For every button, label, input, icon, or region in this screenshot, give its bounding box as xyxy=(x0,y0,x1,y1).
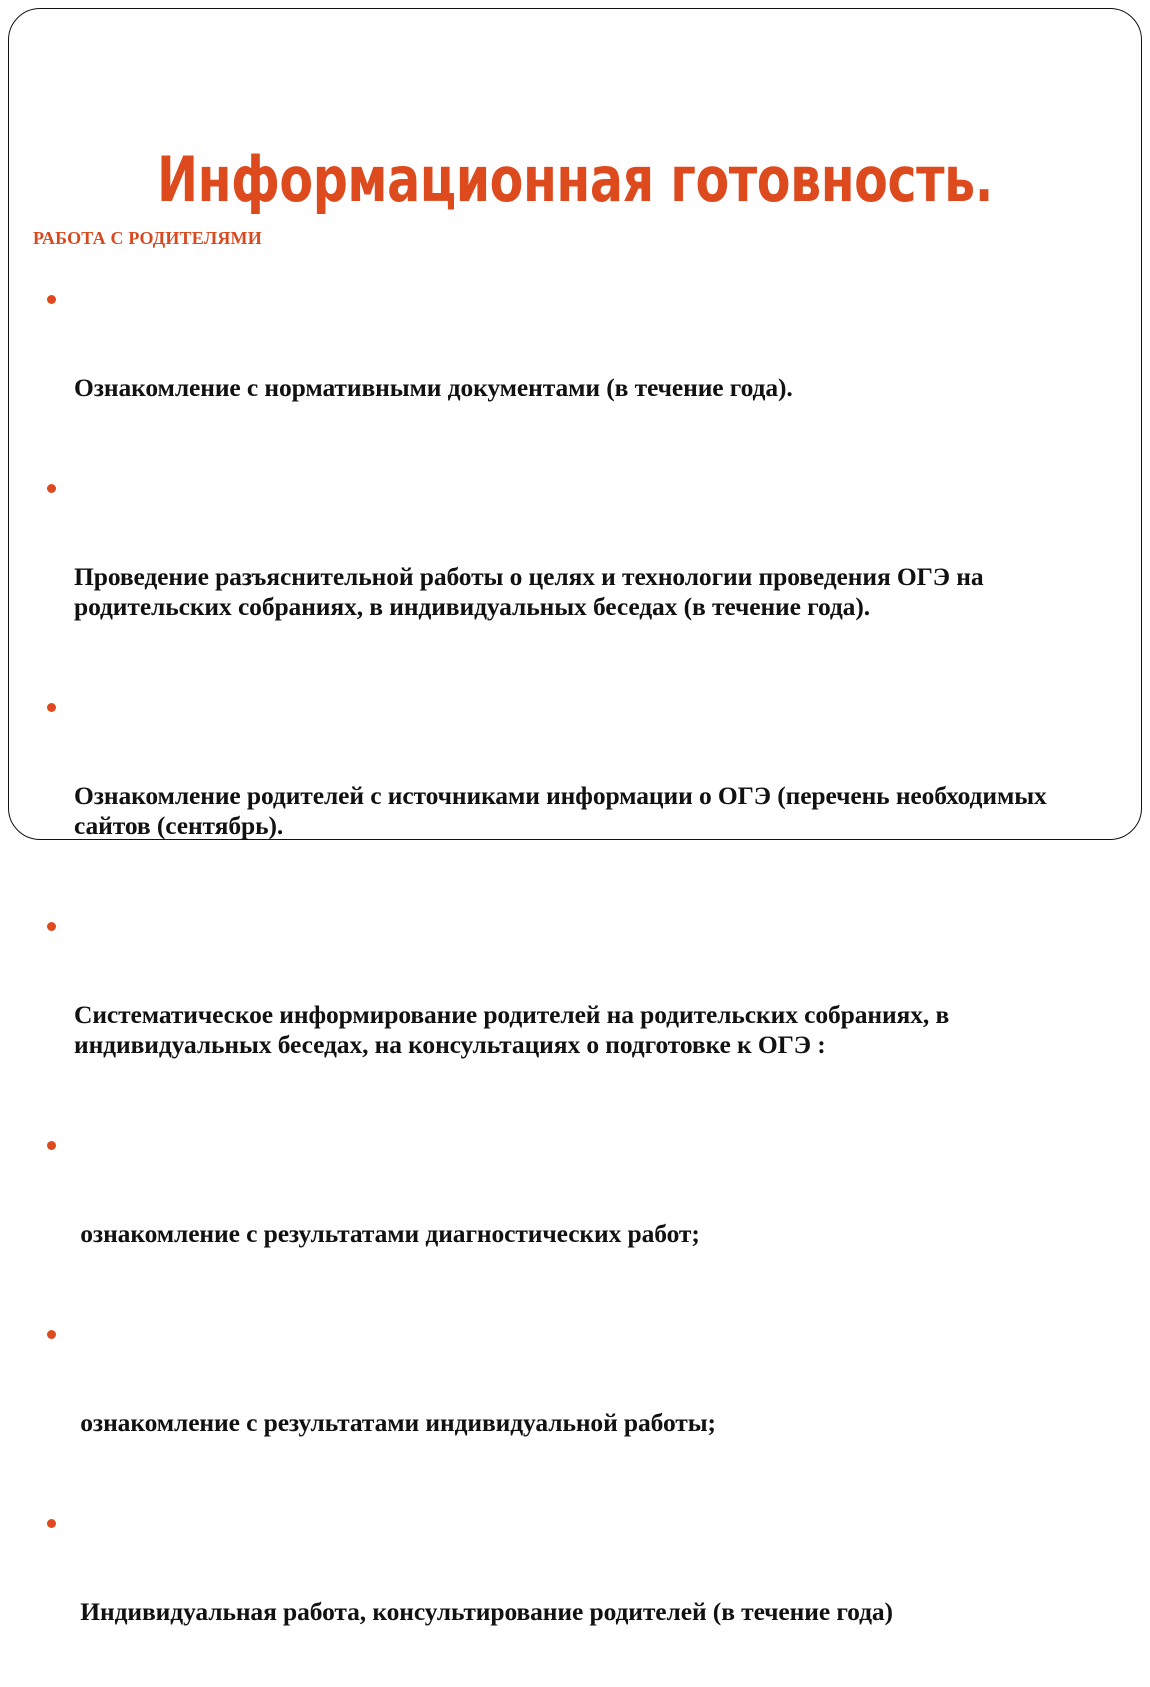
list-item: Ознакомление родителей с источниками инф… xyxy=(33,691,1119,901)
list-item-label: Индивидуальная работа, консультирование … xyxy=(74,1597,1119,1627)
list-item-label: Ознакомление с нормативными документами … xyxy=(74,373,1119,403)
list-item: Проведение разъяснительной работы о целя… xyxy=(33,472,1119,682)
slide-content: Информационная готовность. РАБОТА С РОДИ… xyxy=(9,9,1141,839)
page-title: Информационная готовность. xyxy=(77,147,1073,213)
bullet-dot-icon xyxy=(47,484,56,493)
list-item: ознакомление с результатами индивидуальн… xyxy=(33,1318,1119,1498)
list-item-label: Ознакомление родителей с источниками инф… xyxy=(74,781,1119,841)
slide-frame: Информационная готовность. РАБОТА С РОДИ… xyxy=(8,8,1142,840)
list-item: Индивидуальная работа, консультирование … xyxy=(33,1507,1119,1687)
bullet-dot-icon xyxy=(47,1519,56,1528)
list-item-label: ознакомление с результатами индивидуальн… xyxy=(74,1408,1119,1438)
list-item: Систематическое информирование родителей… xyxy=(33,910,1119,1120)
list-item-label: Систематическое информирование родителей… xyxy=(74,1000,1119,1060)
bullet-dot-icon xyxy=(47,703,56,712)
list-item: ознакомление с результатами диагностичес… xyxy=(33,1129,1119,1309)
bullet-dot-icon xyxy=(47,295,56,304)
bullet-dot-icon xyxy=(47,922,56,931)
bullet-dot-icon xyxy=(47,1141,56,1150)
list-item-label: ознакомление с результатами диагностичес… xyxy=(74,1219,1119,1249)
list-item-label: Проведение разъяснительной работы о целя… xyxy=(74,562,1119,622)
list-item: Ознакомление с нормативными документами … xyxy=(33,283,1119,463)
bullet-dot-icon xyxy=(47,1330,56,1339)
bullet-list: Ознакомление с нормативными документами … xyxy=(33,283,1119,1687)
section-subtitle: РАБОТА С РОДИТЕЛЯМИ xyxy=(33,227,262,249)
